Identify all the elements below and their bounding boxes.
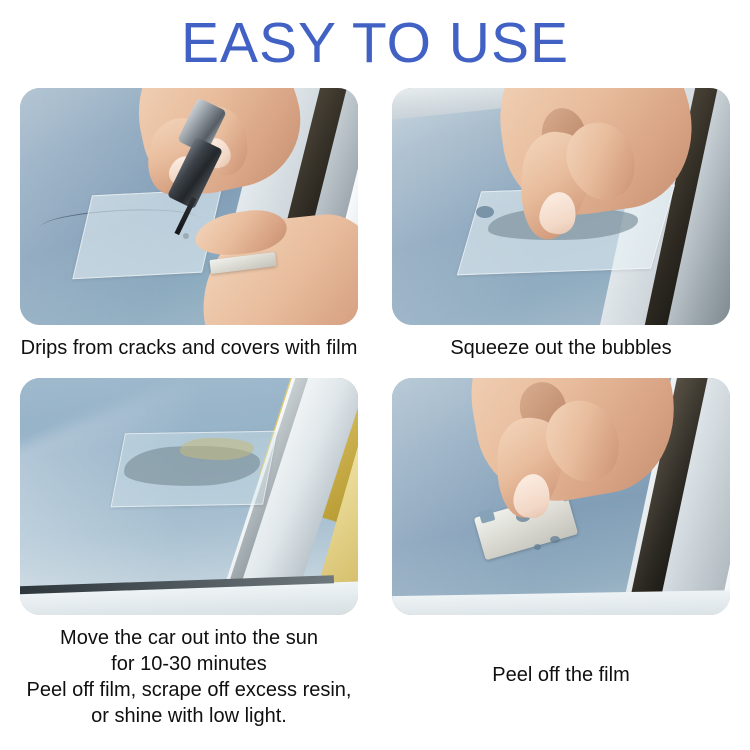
easy-to-use-instruction-graphic: EASY TO USE (0, 0, 750, 750)
resin-droplet (476, 206, 494, 218)
step-1: Drips from cracks and covers with film (20, 88, 358, 361)
step-3-caption: Move the car out into the sun for 10-30 … (0, 625, 379, 729)
step-3-caption-line-1: Move the car out into the sun (0, 625, 379, 651)
step-3-caption-line-2: for 10-30 minutes (0, 651, 379, 677)
step-3: Move the car out into the sun for 10-30 … (20, 378, 358, 729)
step-3-caption-line-4: or shine with low light. (0, 703, 379, 729)
step-2: Squeeze out the bubbles (392, 88, 730, 361)
step-1-caption: Drips from cracks and covers with film (20, 335, 358, 361)
photo-cure-in-sun (20, 378, 358, 615)
step-4-caption: Peel off the film (392, 662, 730, 688)
resin-bead-2 (550, 536, 560, 543)
step-3-caption-line-3: Peel off film, scrape off excess resin, (0, 677, 379, 703)
photo-apply-resin (20, 88, 358, 325)
photo-peel-film (392, 378, 730, 615)
step-4: Peel off the film (392, 378, 730, 688)
photo-squeeze-bubbles (392, 88, 730, 325)
step-2-caption: Squeeze out the bubbles (392, 335, 730, 361)
page-title: EASY TO USE (0, 14, 750, 72)
resin-bead-3 (534, 544, 541, 550)
cured-resin-highlight (180, 438, 254, 460)
